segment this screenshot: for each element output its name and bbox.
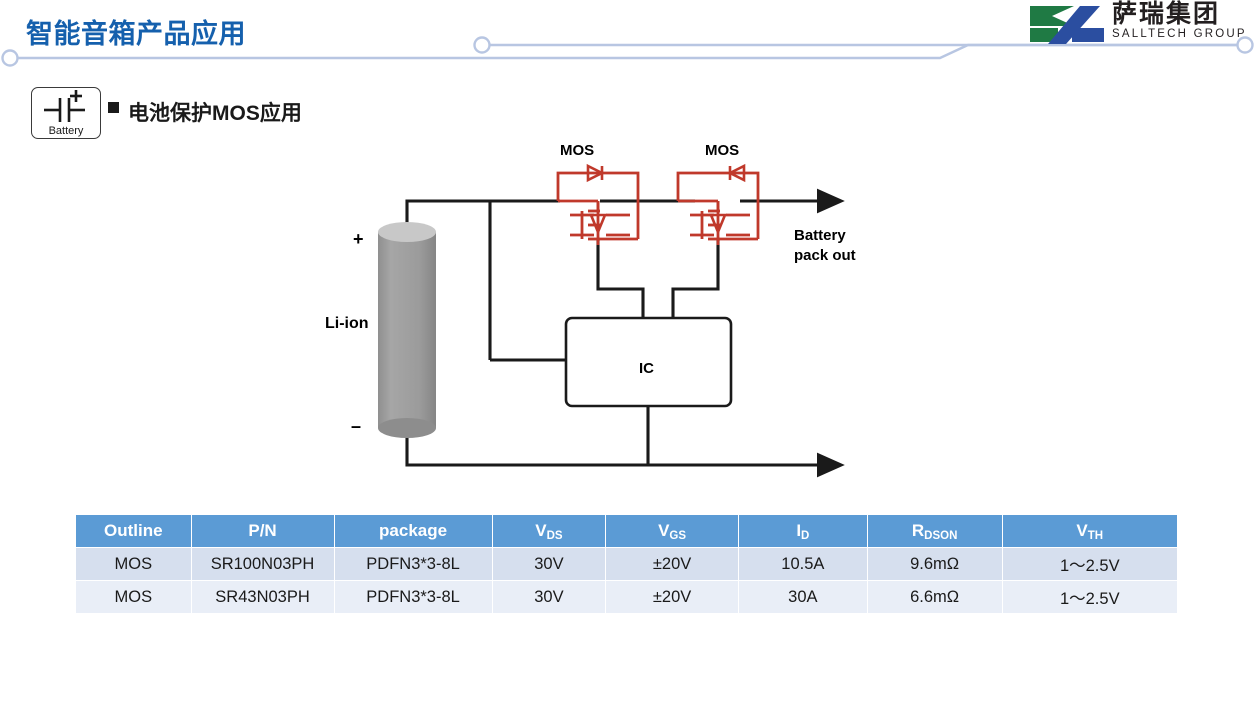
battery-badge-label: Battery [32,125,100,137]
battery-minus-label: – [351,416,361,437]
cell-pn: SR43N03PH [192,581,334,613]
cell-package: PDFN3*3-8L [335,581,492,613]
column-header-rdson: RDSON [868,515,1002,547]
output-label-line2: pack out [794,247,856,264]
battery-icon-badge: Battery [31,87,101,139]
cell-vds: 30V [493,581,606,613]
cell-rdson: 6.6mΩ [868,581,1002,613]
column-header-package: package [335,515,492,547]
table-header-row: Outline P/N package VDS VGS ID RDSON VTH [76,515,1177,547]
cell-id: 30A [739,581,867,613]
logo-name-cn: 萨瑞集团 [1112,0,1254,28]
bullet-square-icon [108,102,119,113]
cell-id: 10.5A [739,548,867,580]
column-header-vth: VTH [1003,515,1177,547]
page-title: 智能音箱产品应用 [26,12,246,51]
column-header-pn: P/N [192,515,334,547]
cell-vgs: ±20V [606,581,738,613]
battery-cell [378,222,436,438]
circuit-diagram: MOS MOS IC Li-ion + – Battery pack out [300,135,900,495]
battery-type-label: Li-ion [325,315,369,333]
mos-left-label: MOS [560,142,594,159]
column-header-vgs: VGS [606,515,738,547]
cell-rdson: 9.6mΩ [868,548,1002,580]
column-header-outline: Outline [76,515,191,547]
output-label-line1: Battery [794,227,846,244]
salltech-logo-mark [1028,4,1108,46]
mos-right-label: MOS [705,142,739,159]
cell-package: PDFN3*3-8L [335,548,492,580]
cell-outline: MOS [76,548,191,580]
cell-vth: 1～2.5V [1003,581,1177,613]
cell-vgs: ±20V [606,548,738,580]
ic-label: IC [639,360,654,377]
table-row: MOS SR43N03PH PDFN3*3-8L 30V ±20V 30A 6.… [76,581,1177,613]
table-row: MOS SR100N03PH PDFN3*3-8L 30V ±20V 10.5A… [76,548,1177,580]
section-heading: 电池保护MOS应用 [128,97,302,127]
deco-circle-left [3,51,18,66]
cell-vds: 30V [493,548,606,580]
cell-pn: SR100N03PH [192,548,334,580]
spec-table: Outline P/N package VDS VGS ID RDSON VTH… [75,514,1178,614]
column-header-id: ID [739,515,867,547]
battery-plus-label: + [353,229,364,250]
company-logo: 萨瑞集团 SALLTECH GROUP [1028,2,1253,48]
deco-circle-middle [475,38,490,53]
logo-name-en: SALLTECH GROUP [1112,28,1254,41]
slide-canvas: 智能音箱产品应用 萨瑞集团 SALLTECH GROUP [0,0,1255,703]
column-header-vds: VDS [493,515,606,547]
cell-outline: MOS [76,581,191,613]
cell-vth: 1～2.5V [1003,548,1177,580]
